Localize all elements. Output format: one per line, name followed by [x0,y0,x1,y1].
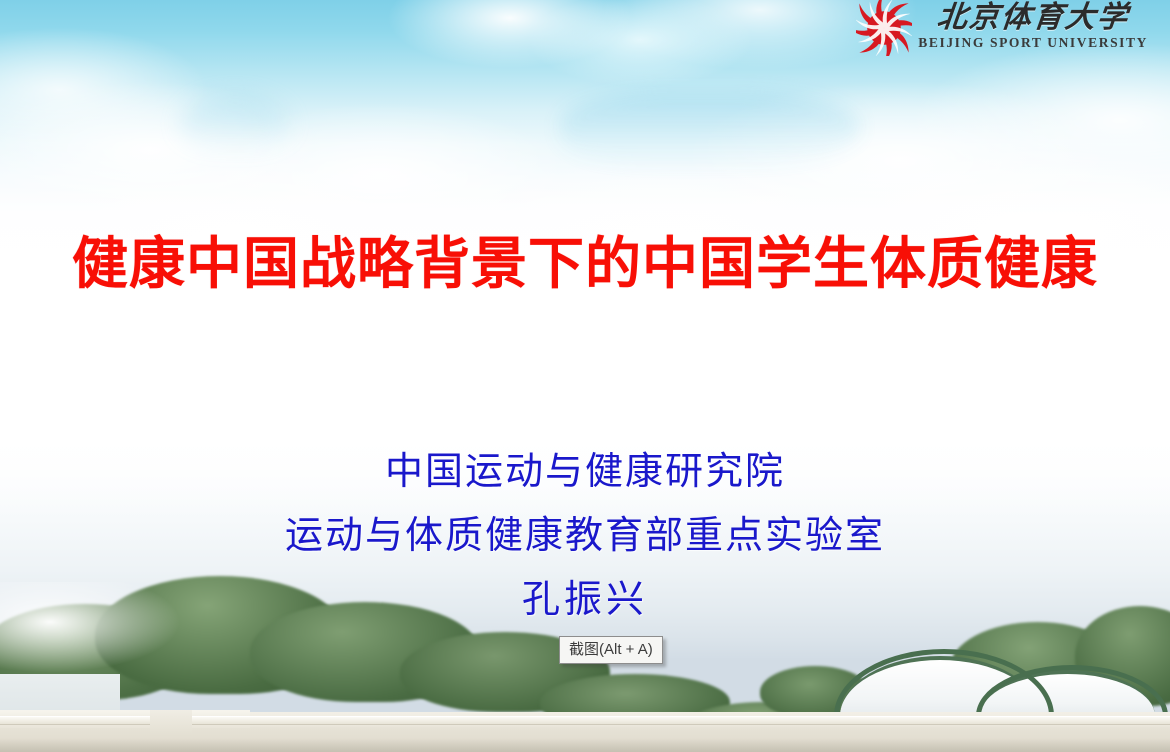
cloud-wisp-left [180,96,290,154]
logo-english-name: BEIJING SPORT UNIVERSITY [918,35,1148,51]
affiliation-line-1: 中国运动与健康研究院 [0,440,1170,504]
affiliation-line-2: 运动与体质健康教育部重点实验室 [0,504,1170,568]
screenshot-shortcut-tooltip: 截图(Alt + A) [559,636,663,664]
affiliation-block: 中国运动与健康研究院 运动与体质健康教育部重点实验室 孔振兴 [0,440,1170,631]
wall-shadow [0,738,1170,752]
stadium-dome-group [830,638,1170,716]
wall-notch [150,710,192,736]
presentation-slide: 北京体育大学 BEIJING SPORT UNIVERSITY 健康中国战略背景… [0,0,1170,752]
university-logo: 北京体育大学 BEIJING SPORT UNIVERSITY [856,2,1148,56]
bsu-swirl-emblem-icon [856,0,912,56]
slide-title: 健康中国战略背景下的中国学生体质健康 [0,234,1170,297]
author-name: 孔振兴 [0,568,1170,632]
logo-chinese-name: 北京体育大学 [935,2,1130,34]
logo-wordmark: 北京体育大学 BEIJING SPORT UNIVERSITY [918,2,1148,51]
